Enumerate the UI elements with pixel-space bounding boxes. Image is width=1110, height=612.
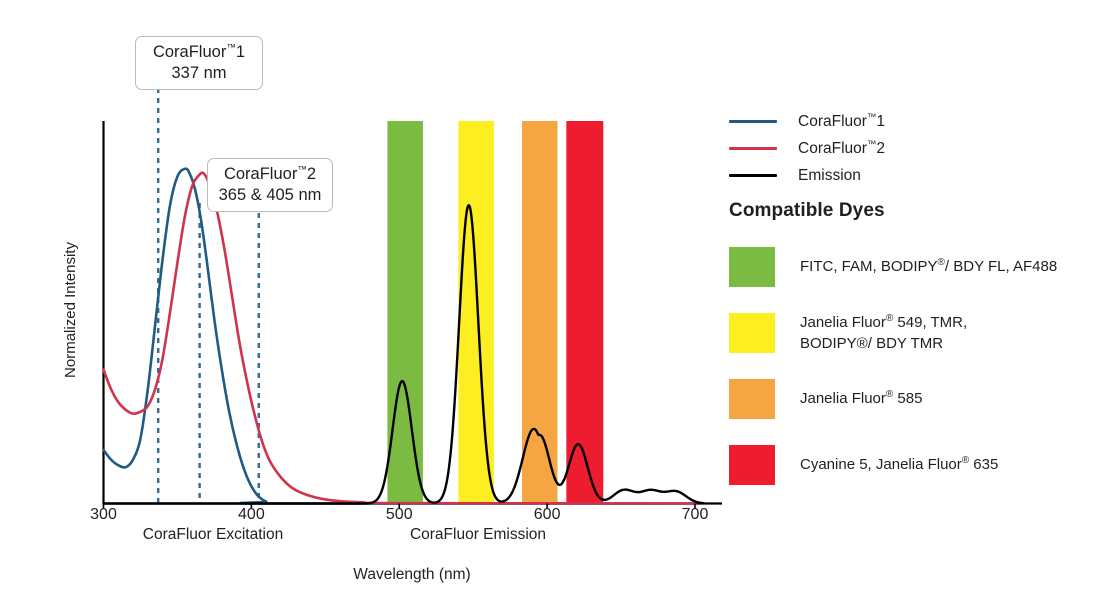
callout-corafluor1: CoraFluor™1 337 nm [135, 36, 263, 90]
legend-row-1: CoraFluor™1 [729, 108, 1099, 135]
trademark-icon: ™ [867, 139, 877, 150]
y-axis-title: Normalized Intensity [62, 242, 79, 378]
registered-trademark-icon: ® [938, 257, 945, 268]
legend-line-swatch-icon [729, 174, 777, 177]
x-tick-label-300: 300 [90, 506, 117, 524]
dye-label-3: Janelia Fluor® 585 [800, 388, 922, 409]
dye-row-2: Janelia Fluor® 549, TMR,BODIPY®/ BDY TMR [729, 300, 1104, 366]
emission-band-4 [566, 121, 603, 504]
dye-color-swatch-icon [729, 379, 775, 419]
x-tick-label-400: 400 [238, 506, 265, 524]
legend-line-swatch-icon [729, 120, 777, 123]
legend-row-2: CoraFluor™2 [729, 135, 1099, 162]
legend-label-1: CoraFluor™1 [798, 112, 885, 131]
callout-1-value: 337 nm [146, 63, 252, 84]
compatible-dyes-heading: Compatible Dyes [729, 200, 885, 222]
dye-label-4: Cyanine 5, Janelia Fluor® 635 [800, 454, 998, 475]
emission-band-2 [458, 121, 493, 504]
legend-label-3: Emission [798, 167, 861, 185]
trademark-icon: ™ [226, 43, 236, 54]
emission-band-bars [387, 121, 603, 504]
legend-row-3: Emission [729, 162, 1099, 189]
series-legend: CoraFluor™1CoraFluor™2Emission [729, 108, 1099, 189]
callout-1-name: CoraFluor™1 [146, 42, 252, 63]
dye-color-swatch-icon [729, 445, 775, 485]
dye-color-swatch-icon [729, 313, 775, 353]
x-axis-title: Wavelength (nm) [353, 566, 470, 584]
emission-band-3 [522, 121, 557, 504]
trademark-icon: ™ [297, 165, 307, 176]
dye-row-4: Cyanine 5, Janelia Fluor® 635 [729, 432, 1104, 498]
fluorescence-spectra-figure: CoraFluor™1 337 nm CoraFluor™2 365 & 405… [0, 0, 1110, 612]
emission-band-1 [387, 121, 422, 504]
legend-line-swatch-icon [729, 147, 777, 150]
x-tick-label-500: 500 [386, 506, 413, 524]
dye-row-1: FITC, FAM, BODIPY®/ BDY FL, AF488 [729, 234, 1104, 300]
legend-label-2: CoraFluor™2 [798, 139, 885, 158]
dye-label-2: Janelia Fluor® 549, TMR,BODIPY®/ BDY TMR [800, 312, 967, 354]
callout-2-name: CoraFluor™2 [218, 164, 322, 185]
callout-corafluor2: CoraFluor™2 365 & 405 nm [207, 158, 333, 212]
dye-color-swatch-icon [729, 247, 775, 287]
dye-label-1: FITC, FAM, BODIPY®/ BDY FL, AF488 [800, 256, 1057, 277]
x-tick-label-600: 600 [534, 506, 561, 524]
emission-region-label: CoraFluor Emission [410, 526, 546, 544]
excitation-region-label: CoraFluor Excitation [143, 526, 283, 544]
x-tick-label-700: 700 [682, 506, 709, 524]
compatible-dyes-list: FITC, FAM, BODIPY®/ BDY FL, AF488Janelia… [729, 234, 1104, 498]
dye-row-3: Janelia Fluor® 585 [729, 366, 1104, 432]
callout-2-value: 365 & 405 nm [218, 185, 322, 206]
trademark-icon: ™ [867, 112, 877, 123]
